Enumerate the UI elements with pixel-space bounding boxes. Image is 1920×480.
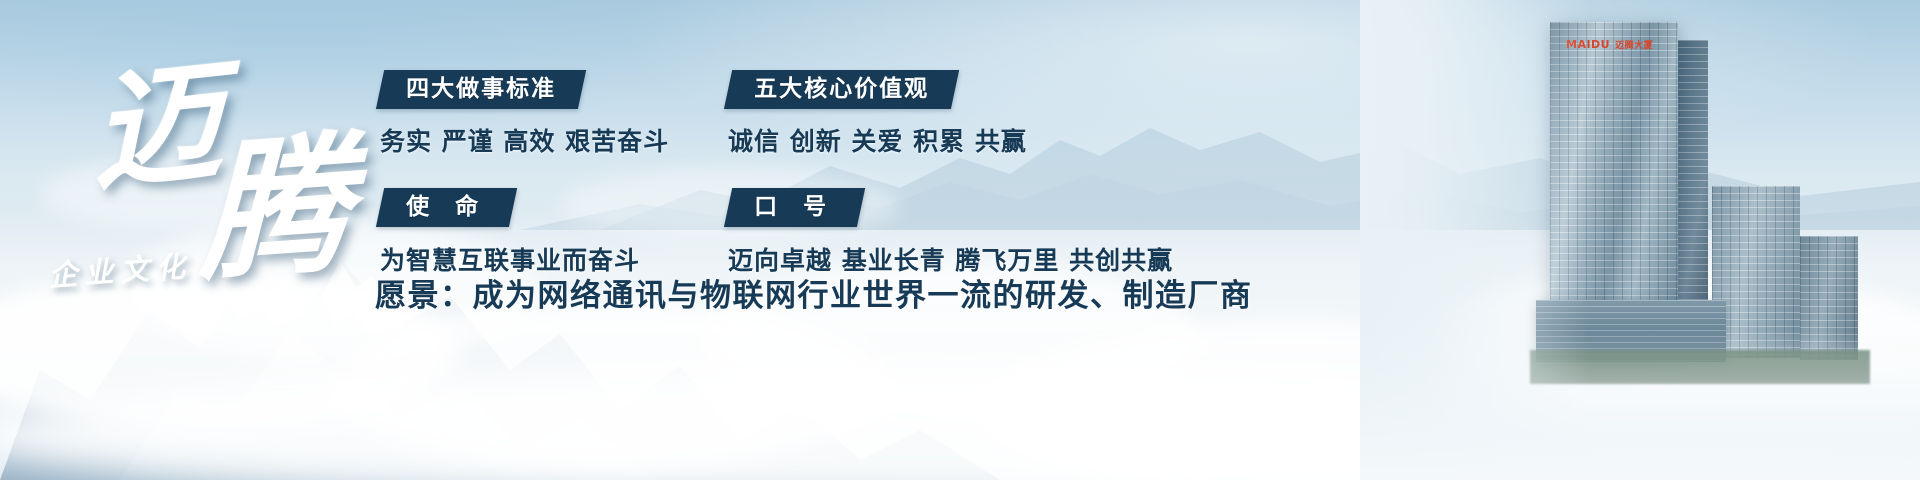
text-four-standards: 务实 严谨 高效 艰苦奋斗 xyxy=(380,122,669,158)
text-five-values: 诚信 创新 关爱 积累 共赢 xyxy=(728,122,1173,158)
badge-mission-label: 使 命 xyxy=(406,194,487,220)
column-values: 五大核心价值观 诚信 创新 关爱 积累 共赢 口 号 迈向卓越 基业长青 腾飞万… xyxy=(728,70,1173,277)
badge-slogan-label: 口 号 xyxy=(754,194,835,220)
vision-statement: 愿景：成为网络通讯与物联网行业世界一流的研发、制造厂商 xyxy=(375,270,1253,315)
badge-slogan: 口 号 xyxy=(724,188,865,227)
column-standards: 四大做事标准 务实 严谨 高效 艰苦奋斗 使 命 为智慧互联事业而奋斗 xyxy=(380,70,669,277)
badge-mission: 使 命 xyxy=(376,188,517,227)
brand-calligraphy: 迈 腾 企业文化 xyxy=(36,48,366,308)
badge-four-standards: 四大做事标准 xyxy=(376,70,586,109)
photo-fade-bottom xyxy=(1360,330,1920,480)
badge-five-values: 五大核心价值观 xyxy=(724,70,959,109)
tower-name-text: 迈腾大厦 xyxy=(1615,38,1653,51)
badge-five-values-label: 五大核心价值观 xyxy=(754,76,929,102)
brand-subtitle: 企业文化 xyxy=(47,243,194,295)
brand-char-teng: 腾 xyxy=(199,128,351,289)
headquarters-photo: MAIDU 迈腾大厦 xyxy=(1360,0,1920,480)
badge-four-standards-label: 四大做事标准 xyxy=(406,76,556,102)
culture-banner: 迈 腾 企业文化 四大做事标准 务实 严谨 高效 艰苦奋斗 使 命 为智慧互联事… xyxy=(0,0,1920,480)
